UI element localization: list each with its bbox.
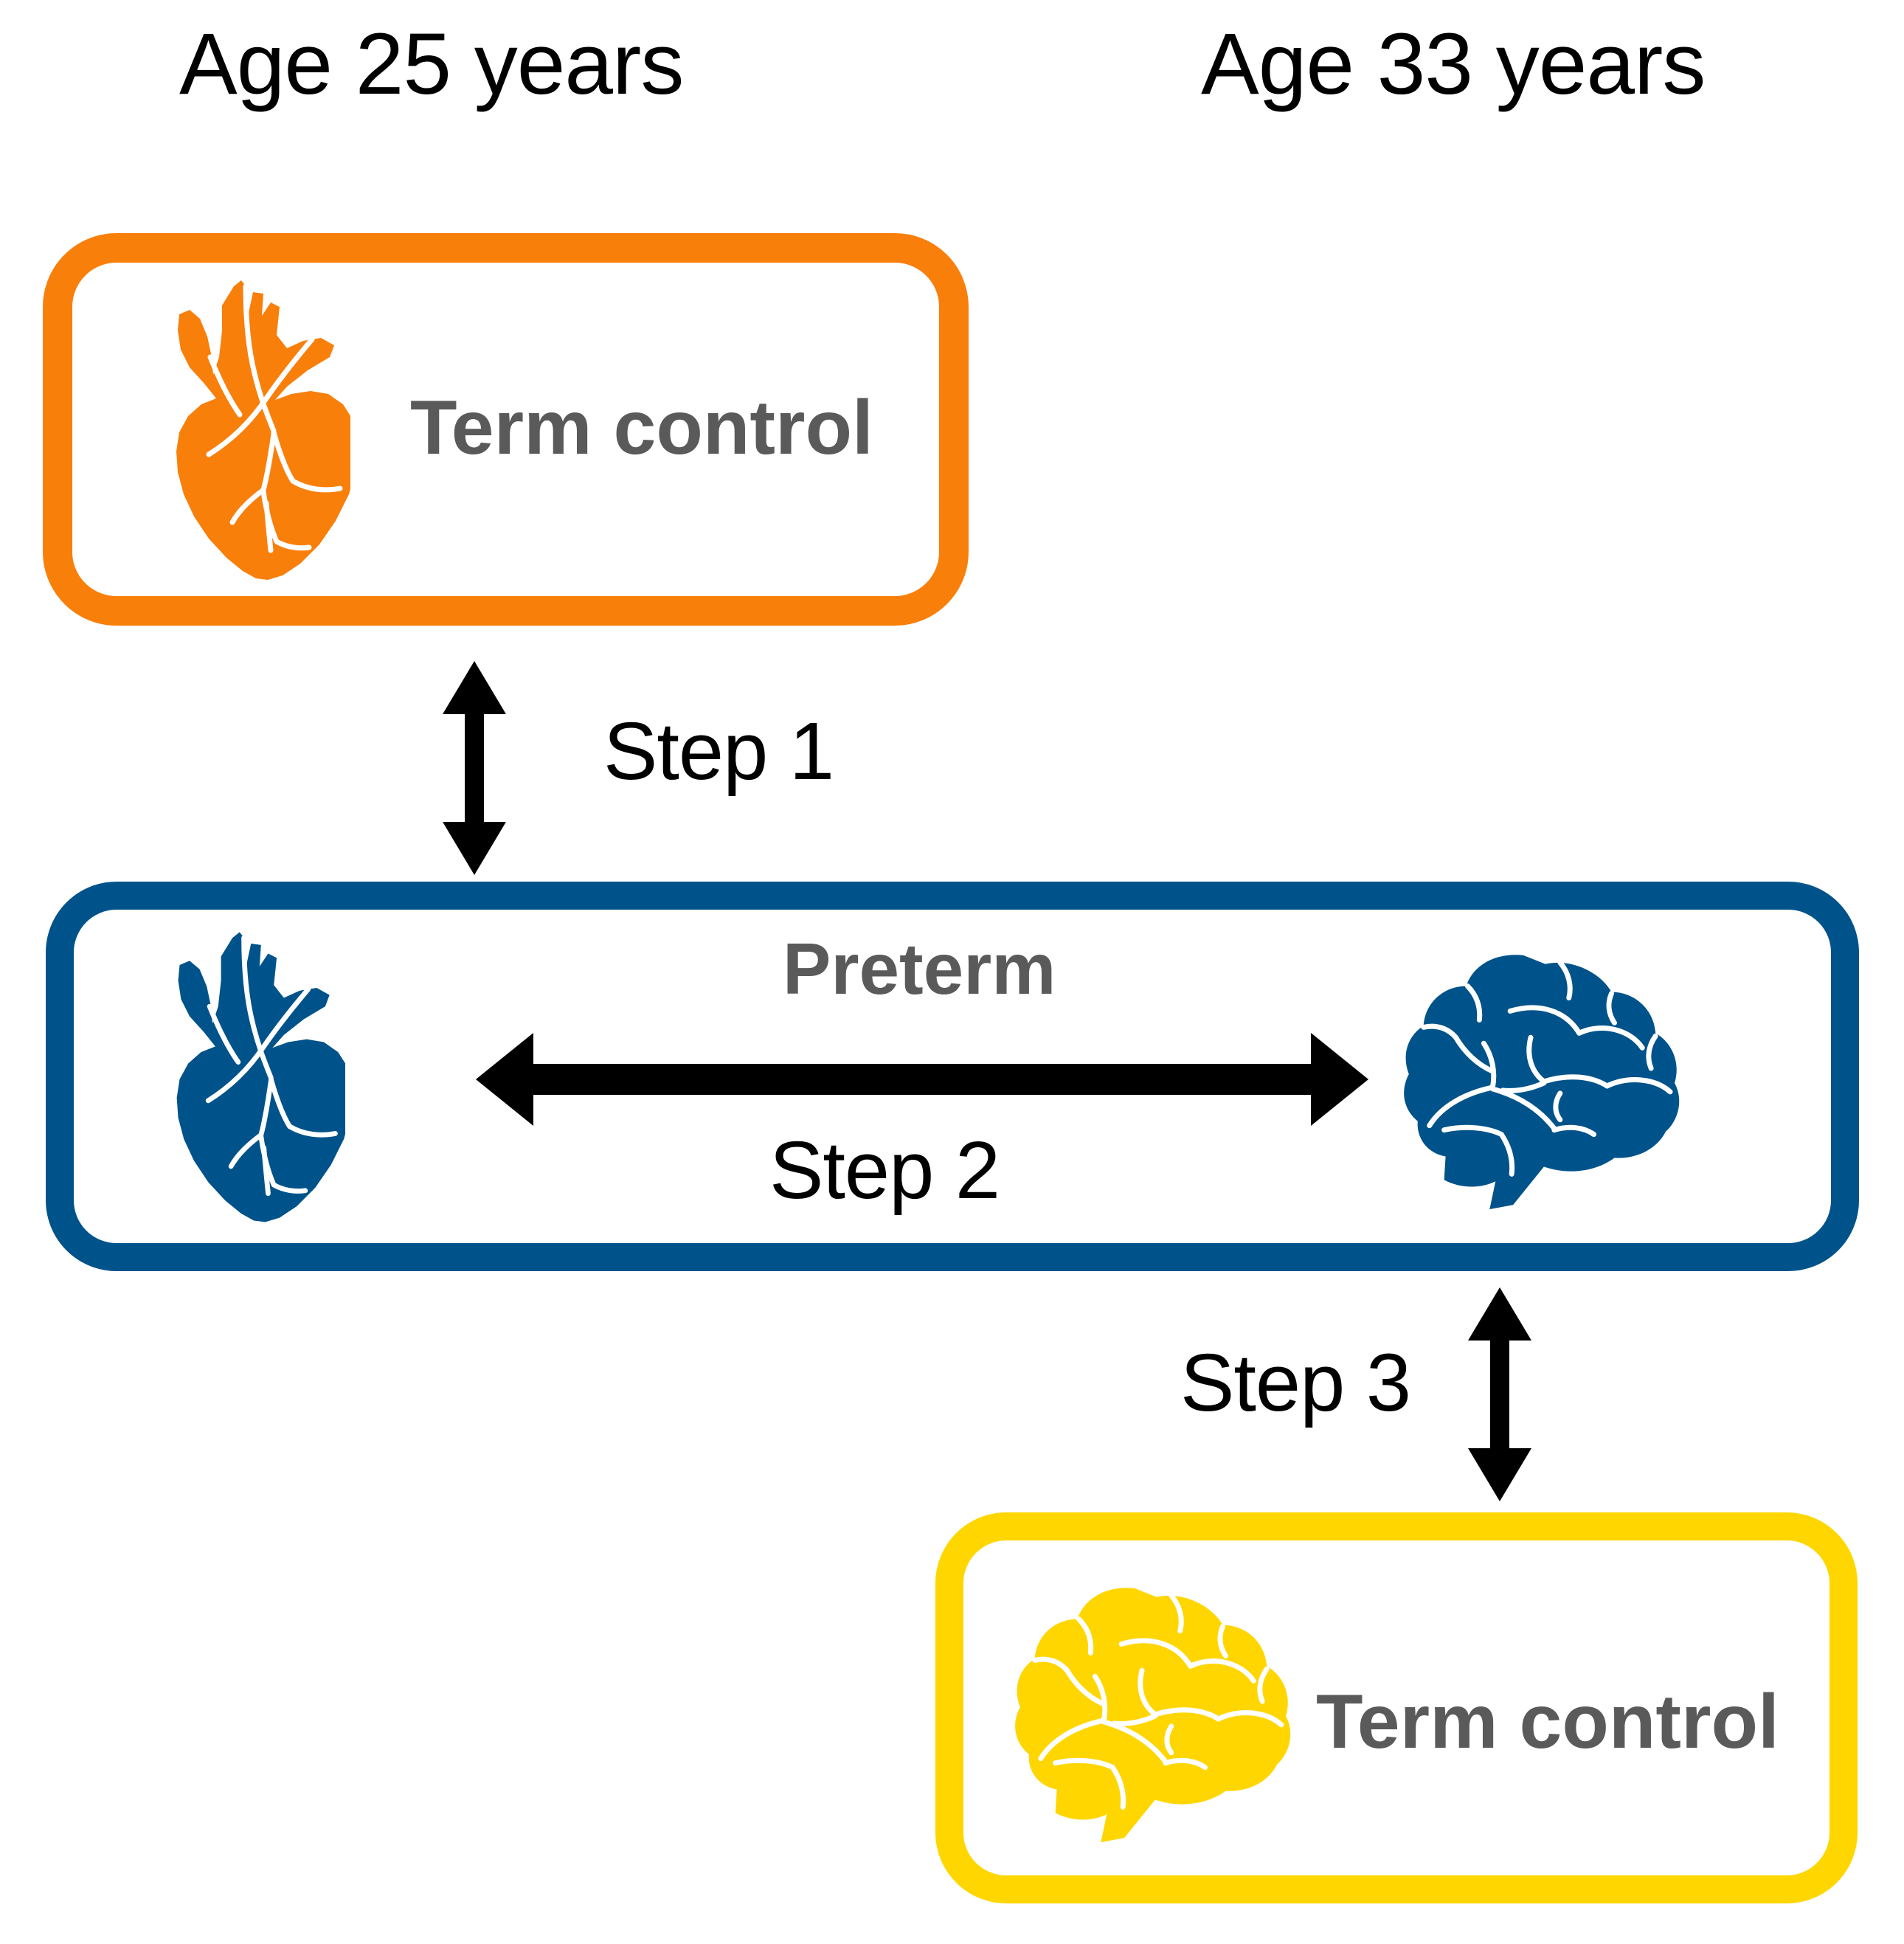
column-header-age-25: Age 25 years [179, 21, 683, 108]
heart-icon [124, 921, 345, 1231]
diagram-canvas: Age 25 years Age 33 years Term control S… [0, 0, 1904, 1944]
brain-icon [998, 1579, 1292, 1844]
group-label-term-control-brain: Term control [1316, 1684, 1779, 1760]
step-3-label: Step 3 [1180, 1343, 1410, 1424]
step-3-double-arrow-icon [1468, 1287, 1531, 1501]
group-label-preterm: Preterm [783, 933, 1056, 1005]
step-2-label: Step 2 [769, 1130, 1000, 1211]
step-2-double-arrow-icon [476, 1033, 1368, 1126]
step-1-double-arrow-icon [443, 661, 506, 875]
heart-icon [122, 269, 350, 589]
group-label-term-control-heart: Term control [410, 390, 873, 466]
column-header-age-33: Age 33 years [1201, 21, 1705, 108]
step-1-label: Step 1 [603, 711, 834, 792]
brain-icon [1387, 946, 1680, 1211]
